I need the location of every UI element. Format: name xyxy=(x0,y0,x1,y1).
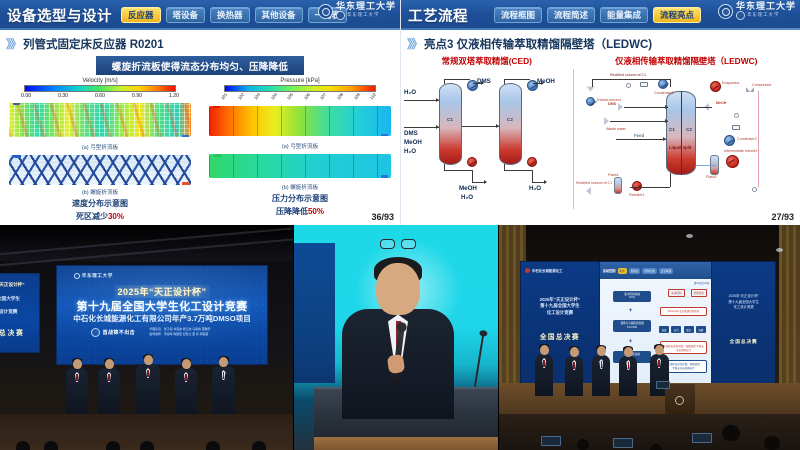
right-university-logo: 华东理工大学 华东理工大学 xyxy=(718,2,796,20)
led-wall: 中石化长城能源化工 2025年“天正设计杯” 第十九届全国大学生 化工设计竞赛 … xyxy=(520,261,776,387)
presenter xyxy=(535,354,553,396)
slide-tag-left: 先进控制 xyxy=(668,289,684,297)
laptop xyxy=(613,438,633,448)
cfd-velocity-column: Velocity [m/s] 0.00 0.30 0.60 0.90 1.20 xyxy=(0,78,200,222)
ledwc-dividing-wall xyxy=(681,91,682,175)
side-screen-line2: 全国大学生 xyxy=(0,296,20,302)
pressure-tick: 103 xyxy=(253,92,264,103)
pressure-result-prefix: 压降降低 xyxy=(276,207,308,216)
velocity-tick: 0.90 xyxy=(132,93,142,99)
left-logo-text: 华东理工大学 华东理工大学 xyxy=(336,2,396,20)
ced-feed-dms-label: DMS xyxy=(404,130,418,137)
ledwc-reboiler-1 xyxy=(632,181,642,191)
screen-project-name: 中石化长城能源化工有限公司年产3.7万吨DMSO项目 xyxy=(57,313,267,324)
ledwc-reboiler-1-label: Reboiler1 xyxy=(629,193,644,197)
pressure-contour-baffle-a xyxy=(205,106,395,140)
ledwc-pump-bottom-icon xyxy=(752,187,757,192)
slide-plus-2: + xyxy=(629,339,633,345)
cfd-pressure-column: Pressure [kPa] 101 102 103 104 105 106 1… xyxy=(200,78,400,222)
audience-head xyxy=(764,436,780,450)
right-logo-text: 华东理工大学 华东理工大学 xyxy=(736,2,796,20)
velocity-result-value: 30% xyxy=(108,212,124,221)
ledwc-dms-splitter-icon xyxy=(618,103,623,111)
presenter xyxy=(565,356,583,396)
side-screen-line4: 总决赛 xyxy=(0,327,25,337)
screenshot-root: 设备选型与设计 反应器 塔设备 换热器 其他设备 一览表 华东理工大学 华东理工… xyxy=(0,0,800,450)
right-slide-page-number: 27/93 xyxy=(771,212,794,222)
sponsor-dot-icon xyxy=(525,268,530,273)
presenter xyxy=(619,356,637,396)
ced-bottom1-meoh-label: MeOH xyxy=(459,185,477,192)
cfd-columns: Velocity [m/s] 0.00 0.30 0.60 0.90 1.20 xyxy=(0,78,400,222)
velocity-caption-a: (a) 弓型折流板 xyxy=(5,143,195,151)
left-logo-seal-text: 华东理工大学 xyxy=(347,13,379,17)
ledwc-condenser-1-label: Condenser1 xyxy=(654,91,674,95)
slide-page-indicator: 第19页/共24页 xyxy=(694,281,710,285)
audience-head xyxy=(577,439,589,450)
pressure-tick: 101 xyxy=(220,92,231,103)
led-wall-sponsor-badge: 中石化长城能源化工 xyxy=(525,268,563,273)
ledwc-evaporator-label: Evaporator xyxy=(722,81,740,85)
tab-column[interactable]: 塔设备 xyxy=(166,7,206,24)
slide-pill-control-points[interactable]: 控制点 xyxy=(629,268,641,274)
slide-left: 设备选型与设计 反应器 塔设备 换热器 其他设备 一览表 华东理工大学 华东理工… xyxy=(0,0,400,225)
ledwc-heat-exchanger-left xyxy=(640,82,648,87)
ced-reboiler-2 xyxy=(527,157,537,167)
ledwc-pump-left-icon xyxy=(626,83,631,88)
audience-head xyxy=(722,425,740,441)
ced-column-c1 xyxy=(439,83,462,165)
tab-reactor[interactable]: 反应器 xyxy=(121,7,161,24)
slide-chip-flow: 流量 xyxy=(696,326,706,333)
video-region: “天正设计杯” 全国大学生 设计竞赛 总决赛 华东理工大学 2025年“天正设计… xyxy=(0,225,800,450)
velocity-caption-b: (b) 螺旋折流板 xyxy=(5,188,195,196)
ledwc-condenser-1 xyxy=(658,79,668,89)
pressure-tick: 108 xyxy=(336,92,347,103)
screen-logo-text: 华东理工大学 xyxy=(82,273,113,279)
pressure-colorbar xyxy=(224,85,376,92)
laptop xyxy=(541,436,561,446)
pressure-caption-b: (b) 螺旋折流板 xyxy=(205,183,395,191)
left-university-logo: 华东理工大学 华东理工大学 xyxy=(318,2,396,20)
left-slide-title-row: 》》 列管式固定床反应器 R0201 xyxy=(0,30,400,52)
ledwc-diagram: C1 C2 Liquid split Extract-solvent DMS W… xyxy=(573,69,799,209)
ledwc-waste-water-splitter-icon xyxy=(604,117,609,125)
speaker-figure xyxy=(342,309,454,419)
ced-feed-water-label: H₂O xyxy=(404,89,416,96)
ledwc-recycle-label: Rectified column of C1 xyxy=(576,181,612,185)
ledwc-extract-solvent-cooler xyxy=(586,97,595,106)
velocity-tick: 1.20 xyxy=(169,93,179,99)
slide-chip-pressure: 压力 xyxy=(671,326,681,333)
right-header-tabs: 流程框图 流程简述 能量集成 流程亮点 xyxy=(494,7,701,24)
ledwc-rectified-column-top-label: Rectified column of C1 xyxy=(610,73,646,77)
tab-flow-diagram[interactable]: 流程框图 xyxy=(494,7,542,24)
chevron-double-right-icon: 》》 xyxy=(407,35,421,52)
process-diagrams-row: C1 C2 xyxy=(401,69,800,209)
ced-reboiler-1 xyxy=(467,157,477,167)
pressure-tick: 106 xyxy=(303,92,314,103)
slide-box-2: 现场与可编程控制器 PLC/SIS xyxy=(613,320,651,331)
slide-plus-1: + xyxy=(629,308,633,314)
ced-column-c2 xyxy=(499,83,522,165)
led-wall-left-panel: 中石化长城能源化工 2025年“天正设计杯” 第十九届全国大学生 化工设计竞赛 … xyxy=(521,262,600,386)
right-logo-seal-text: 华东理工大学 xyxy=(747,13,779,17)
chevron-double-right-icon: 》》 xyxy=(6,35,20,52)
led-wall-right-final: 全国总决赛 xyxy=(712,339,774,345)
presenter xyxy=(98,368,120,414)
ledwc-heat-exchanger-right xyxy=(732,125,740,130)
slide-right: 工艺流程 流程框图 流程简述 能量集成 流程亮点 华东理工大学 华东理工大学 xyxy=(400,0,800,225)
velocity-result: 死区减少30% xyxy=(5,211,195,222)
pressure-ticks: 101 102 103 104 105 106 107 108 109 110 xyxy=(222,93,378,102)
seal-icon xyxy=(336,11,345,20)
slide-tag-right: 智能优化 xyxy=(691,289,707,297)
ledwc-section-c2-label: C2 xyxy=(686,127,692,132)
ledwc-meoh-label: MeOH xyxy=(716,101,726,105)
led-wall-right-title: 2025年“天正设计杯” 第十九届全国大学生 化工设计竞赛 xyxy=(712,294,774,310)
left-logo-seal-row: 华东理工大学 xyxy=(336,11,396,20)
pressure-note: 压力分布示意图 xyxy=(205,193,395,204)
pressure-result: 压降降低50% xyxy=(205,206,395,217)
velocity-legend-label: Velocity [m/s] xyxy=(5,78,195,84)
right-header-title: 工艺流程 xyxy=(401,5,468,26)
right-slide-title: 亮点3 仅液相传输萃取精馏隔壁塔（LEDWC) xyxy=(424,36,652,52)
ced-c1-label: C1 xyxy=(447,117,453,122)
left-side-screen: “天正设计杯” 全国大学生 设计竞赛 总决赛 xyxy=(0,273,40,353)
university-emblem-icon xyxy=(318,4,333,19)
ledwc-flash-1-label: Flash1 xyxy=(608,173,619,177)
led-wall-left-final: 全国总决赛 xyxy=(521,331,599,341)
pressure-result-value: 50% xyxy=(308,207,324,216)
velocity-result-prefix: 死区减少 xyxy=(76,212,108,221)
side-screen-line3: 设计竞赛 xyxy=(0,309,17,315)
slide-pill-interlock[interactable]: 安全联锁 xyxy=(659,268,673,274)
left-slide-banner: 螺旋折流板使得流态分布均匀、压降降低 xyxy=(96,56,304,75)
slide-box-1: 集中控制系统 DCS xyxy=(613,291,651,302)
ledwc-waste-water-label: Waste water xyxy=(606,127,626,131)
ledwc-subtitle: 仅液相传输萃取精馏隔壁塔（LEDWC) xyxy=(573,55,800,67)
pressure-tick: 109 xyxy=(352,92,363,103)
led-wall-right-panel: 2025年“天正设计杯” 第十九届全国大学生 化工设计竞赛 全国总决赛 xyxy=(711,262,774,386)
slide-nav-title: 自动控制 xyxy=(603,268,616,273)
ced-diagram: C1 C2 xyxy=(401,69,573,209)
left-main-screen: 华东理工大学 2025年“天正设计杯” 第十九届全国大学生化工设计竞赛 中石化长… xyxy=(56,265,268,365)
ledwc-dms-label: DMS xyxy=(608,102,616,106)
ledwc-extract-solvent-splitter-icon xyxy=(587,87,595,92)
ced-top1-label: DMS xyxy=(477,78,491,85)
ced-feed-h2o-label: H₂O xyxy=(404,148,416,155)
slide-chip-temperature: 温度 xyxy=(659,326,669,333)
presenter xyxy=(66,368,88,414)
slide-chip-level: 液位 xyxy=(684,326,694,333)
tab-energy-integration[interactable]: 能量集成 xyxy=(600,7,648,24)
lectern-seal-icon xyxy=(675,396,684,405)
ced-c2-label: C2 xyxy=(507,117,513,122)
left-slide-title: 列管式固定床反应器 R0201 xyxy=(23,36,164,52)
university-emblem-icon xyxy=(718,4,733,19)
ledwc-liquid-split-label: Liquid split xyxy=(669,145,691,150)
led-wall-sponsor-text: 中石化长城能源化工 xyxy=(532,268,563,273)
tab-flow-highlights[interactable]: 流程亮点 xyxy=(653,7,701,24)
team-seal-icon xyxy=(91,328,100,337)
velocity-tick: 0.30 xyxy=(58,93,68,99)
left-logo-cn: 华东理工大学 xyxy=(336,2,396,11)
left-header-tabs: 反应器 塔设备 换热器 其他设备 一览表 xyxy=(121,7,347,24)
pressure-tick: 105 xyxy=(286,92,297,103)
video-pane-right[interactable]: 中石化长城能源化工 2025年“天正设计杯” 第十九届全国大学生 化工设计竞赛 … xyxy=(498,225,800,450)
velocity-tick: 0.60 xyxy=(95,93,105,99)
pressure-tick: 107 xyxy=(319,92,330,103)
ledwc-feed-label: Feed xyxy=(634,133,644,138)
right-logo-seal-row: 华东理工大学 xyxy=(736,11,796,20)
pressure-legend-label: Pressure [kPa] xyxy=(205,78,395,84)
slide-right-box-top: DCS+SIS 安全联锁控制系统 xyxy=(660,307,707,316)
video-pane-center[interactable] xyxy=(293,225,498,450)
ledwc-flash-1 xyxy=(614,177,622,194)
ledwc-compressor-icon xyxy=(746,87,754,92)
ced-bottom1-h2o-label: H₂O xyxy=(461,194,473,201)
screen-team-name: 首战锦不出击 xyxy=(103,329,135,336)
slide-nav-bar: 自动控制 概述 控制点 控制方案 安全联锁 xyxy=(600,262,712,279)
ced-top2-label: MeOH xyxy=(537,78,555,85)
ledwc-pump-right-icon xyxy=(734,113,739,118)
pressure-tick: 104 xyxy=(270,92,281,103)
tab-flow-description[interactable]: 流程简述 xyxy=(547,7,595,24)
ledwc-evaporator xyxy=(710,81,721,92)
velocity-tick: 0.00 xyxy=(21,93,31,99)
screen-competition-year: 2025年“天正设计杯” xyxy=(57,285,267,298)
slides-region: 设备选型与设计 反应器 塔设备 换热器 其他设备 一览表 华东理工大学 华东理工… xyxy=(0,0,800,225)
ced-feed-meoh-label: MeOH xyxy=(404,139,422,146)
audience-row xyxy=(0,419,293,450)
ledwc-condenser-2-label: Condenser2 xyxy=(737,137,757,141)
ced-subtitle: 常规双塔萃取精馏(CED) xyxy=(401,55,573,67)
slide-pill-overview[interactable]: 概述 xyxy=(618,268,627,274)
right-slide-header: 工艺流程 流程框图 流程简述 能量集成 流程亮点 华东理工大学 华东理工大学 xyxy=(401,0,800,30)
laptop xyxy=(656,381,670,389)
left-slide-page-number: 36/93 xyxy=(371,212,394,222)
pressure-contour-baffle-b xyxy=(205,154,395,182)
ledwc-condenser-2 xyxy=(724,135,735,146)
presenter xyxy=(175,368,197,414)
tab-other-equipment[interactable]: 其他设备 xyxy=(255,7,303,24)
process-subtitles: 常规双塔萃取精馏(CED) 仅液相传输萃取精馏隔壁塔（LEDWC) xyxy=(401,55,800,67)
seal-icon xyxy=(736,11,745,20)
slide-right-box-mid: 全流程自动化控制，保障装置 平稳安全长周期运行 xyxy=(660,341,707,354)
ledwc-section-c1-label: C1 xyxy=(669,127,675,132)
left-slide-header: 设备选型与设计 反应器 塔设备 换热器 其他设备 一览表 华东理工大学 华东理工… xyxy=(0,0,400,30)
side-screen-line1: “天正设计杯” xyxy=(0,282,25,288)
ledwc-recycle-splitter-icon xyxy=(586,187,591,195)
velocity-colorbar xyxy=(24,85,176,92)
pressure-tick: 110 xyxy=(369,92,380,103)
screen-competition-name: 第十九届全国大学生化工设计竞赛 xyxy=(57,298,267,314)
audience-head xyxy=(650,444,662,450)
ledwc-compressor-label: Compressor xyxy=(752,83,772,87)
presenter xyxy=(592,355,610,396)
velocity-contour-baffle-a xyxy=(5,103,195,141)
pressure-caption-a: (a) 弓型折流板 xyxy=(205,142,395,150)
screen-university-logo: 华东理工大学 xyxy=(74,273,113,279)
ledwc-intermediate-reboiler xyxy=(726,155,739,168)
tab-heat-exchanger[interactable]: 换热器 xyxy=(210,7,250,24)
video-pane-left[interactable]: “天正设计杯” 全国大学生 设计竞赛 总决赛 华东理工大学 2025年“天正设计… xyxy=(0,225,293,450)
pressure-tick: 102 xyxy=(236,92,247,103)
university-emblem-icon xyxy=(74,273,80,279)
right-slide-title-row: 》》 亮点3 仅液相传输萃取精馏隔壁塔（LEDWC) xyxy=(401,30,800,52)
ledwc-intermediate-reboiler-label: Intermediate reboiler xyxy=(724,149,757,153)
screen-team-badge: 首战锦不出击 xyxy=(91,328,135,337)
right-logo-cn: 华东理工大学 xyxy=(736,2,796,11)
led-wall-left-title: 2025年“天正设计杯” 第十九届全国大学生 化工设计竞赛 xyxy=(521,297,599,317)
velocity-ticks: 0.00 0.30 0.60 0.90 1.20 xyxy=(21,93,179,99)
velocity-contour-baffle-b xyxy=(5,155,195,187)
ced-bottom2-label: H₂O xyxy=(529,185,541,192)
screen-team-members: 华理队员：张子恒 刘思航 杨云航 马承霖 董雅轩 指导教师：李春晖 陶国宏 纪秋… xyxy=(149,327,258,336)
laptop xyxy=(692,433,712,443)
presenter xyxy=(212,366,235,414)
slide-pill-control-scheme[interactable]: 控制方案 xyxy=(642,268,656,274)
ledwc-flash-2-label: Flash2 xyxy=(706,175,717,179)
presenter xyxy=(136,364,160,414)
left-header-title: 设备选型与设计 xyxy=(0,5,112,26)
velocity-note: 速度分布示意图 xyxy=(5,198,195,209)
